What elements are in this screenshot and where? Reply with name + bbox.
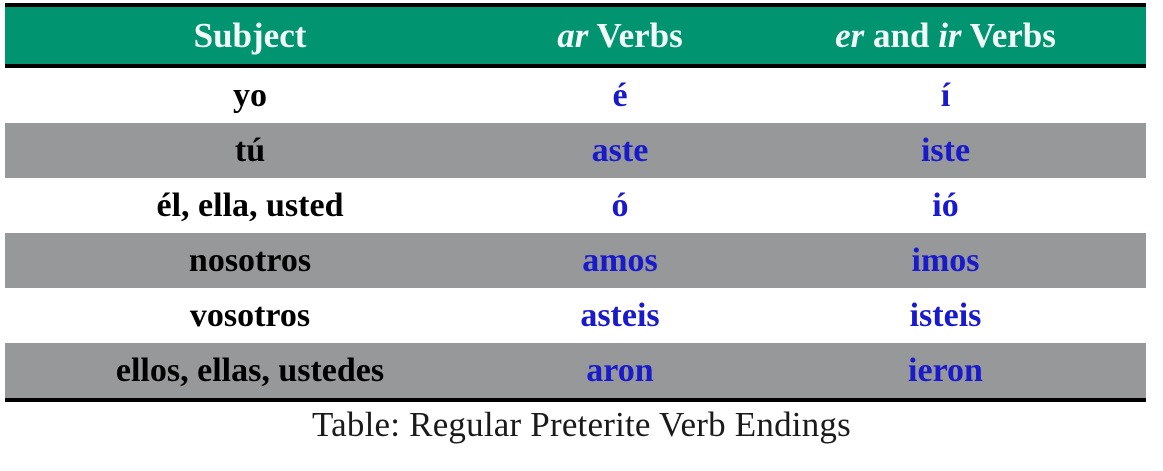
- column-header-ar-verbs: ar Verbs: [495, 5, 745, 66]
- cell-subject: tú: [5, 123, 495, 178]
- table-caption: Table: Regular Preterite Verb Endings: [0, 405, 1163, 445]
- column-header-er-ir-verbs-text: Verbs: [962, 16, 1056, 55]
- column-header-er-ir-verbs: er and ir Verbs: [745, 5, 1146, 66]
- cell-ar-ending: ó: [495, 178, 745, 233]
- column-header-subject-text: Subject: [194, 16, 307, 55]
- cell-er-ir-ending: isteis: [745, 288, 1146, 343]
- cell-er-ir-ending: ieron: [745, 343, 1146, 400]
- cell-er-ir-ending: í: [745, 66, 1146, 123]
- table-header-row: Subject ar Verbs er and ir Verbs: [5, 5, 1146, 66]
- cell-ar-ending: aron: [495, 343, 745, 400]
- cell-subject: nosotros: [5, 233, 495, 288]
- table-body: yo é í tú aste iste él, ella, usted ó ió…: [5, 66, 1146, 400]
- table-row: nosotros amos imos: [5, 233, 1146, 288]
- column-header-ir-italic: ir: [938, 16, 961, 55]
- cell-subject: yo: [5, 66, 495, 123]
- column-header-subject: Subject: [5, 5, 495, 66]
- column-header-ar-verbs-text: Verbs: [588, 16, 682, 55]
- table-row: ellos, ellas, ustedes aron ieron: [5, 343, 1146, 400]
- column-header-ar-italic: ar: [557, 16, 588, 55]
- table-header: Subject ar Verbs er and ir Verbs: [5, 5, 1146, 66]
- cell-subject: ellos, ellas, ustedes: [5, 343, 495, 400]
- cell-ar-ending: asteis: [495, 288, 745, 343]
- table-row: él, ella, usted ó ió: [5, 178, 1146, 233]
- cell-subject: él, ella, usted: [5, 178, 495, 233]
- column-header-and-text: and: [864, 16, 938, 55]
- table-row: yo é í: [5, 66, 1146, 123]
- cell-er-ir-ending: imos: [745, 233, 1146, 288]
- cell-ar-ending: aste: [495, 123, 745, 178]
- cell-er-ir-ending: ió: [745, 178, 1146, 233]
- cell-ar-ending: amos: [495, 233, 745, 288]
- cell-er-ir-ending: iste: [745, 123, 1146, 178]
- table-row: tú aste iste: [5, 123, 1146, 178]
- table-row: vosotros asteis isteis: [5, 288, 1146, 343]
- preterite-endings-table-figure: Subject ar Verbs er and ir Verbs yo é í …: [0, 0, 1163, 471]
- regular-preterite-verb-endings-table: Subject ar Verbs er and ir Verbs yo é í …: [5, 3, 1146, 402]
- cell-ar-ending: é: [495, 66, 745, 123]
- column-header-er-italic: er: [835, 16, 864, 55]
- cell-subject: vosotros: [5, 288, 495, 343]
